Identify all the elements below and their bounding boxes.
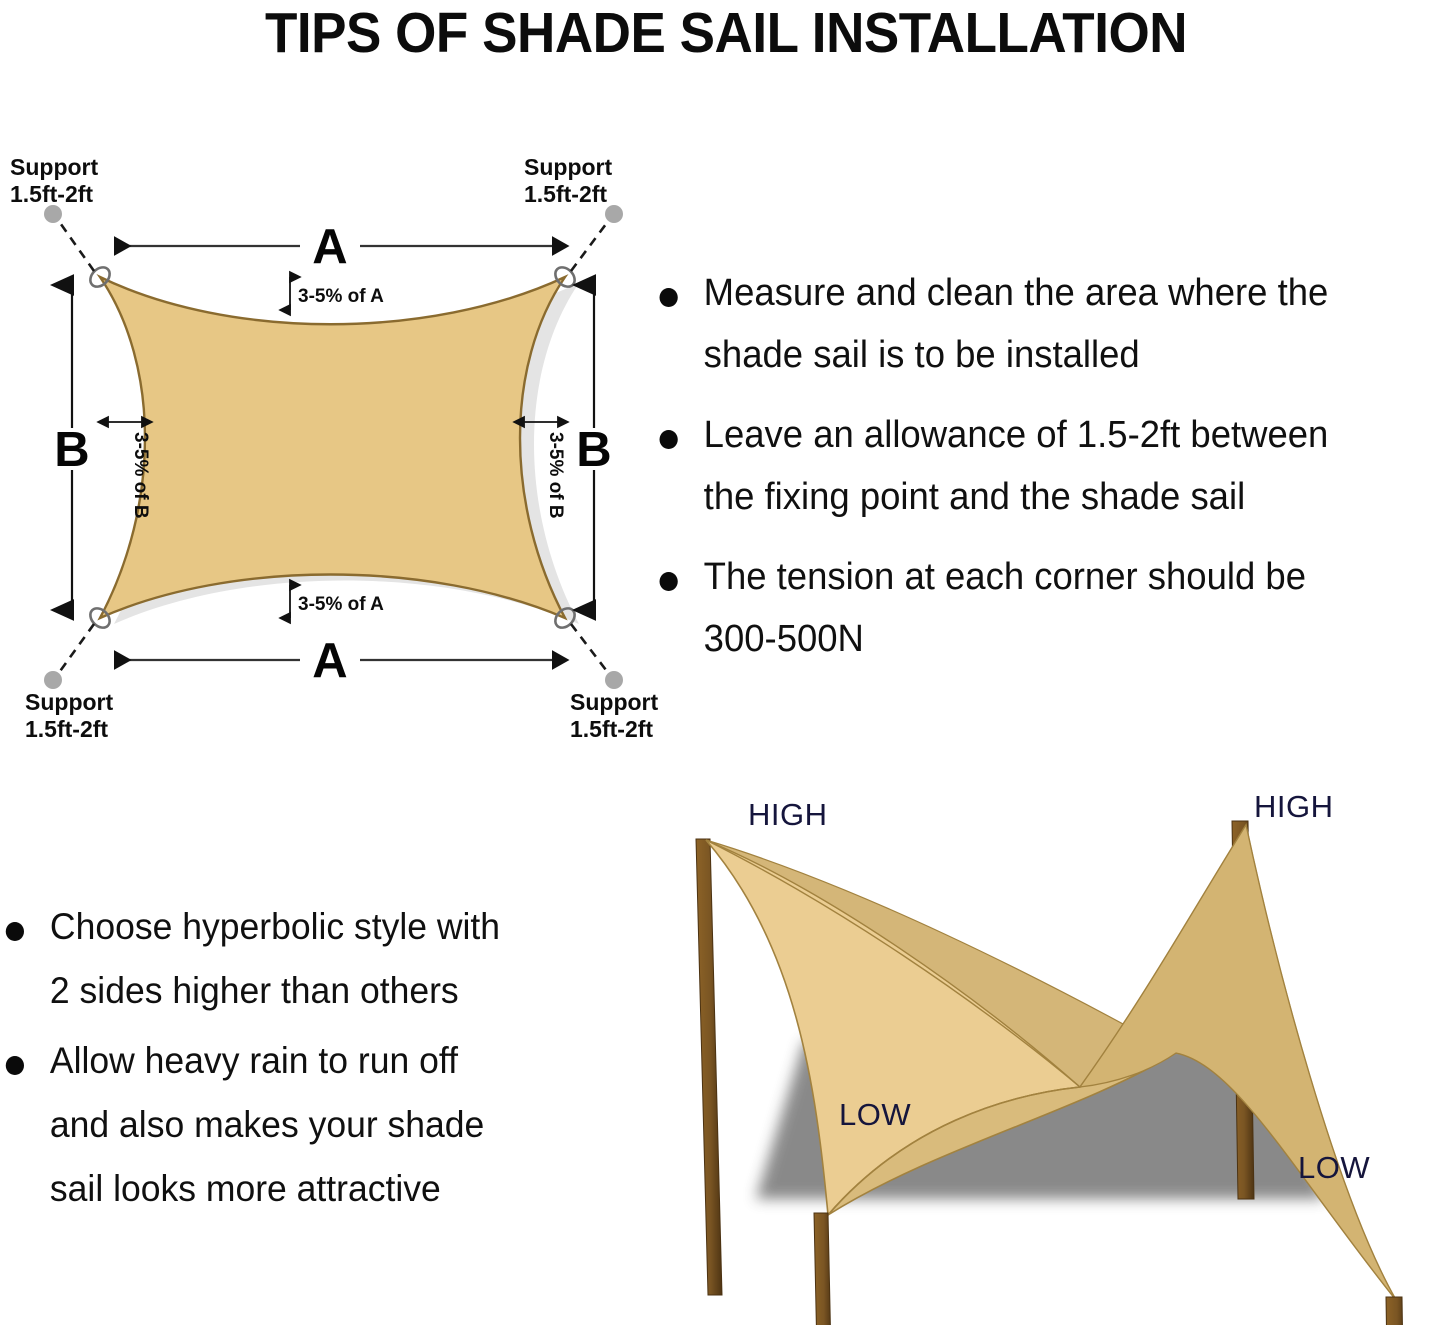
support-label-bottom-right: Support 1.5ft-2ft [570, 689, 658, 742]
bullet-dot-icon [660, 288, 678, 307]
hyperbolic-style-list: Choose hyperbolic style with 2 sides hig… [0, 895, 640, 1221]
support-label-value: 1.5ft-2ft [524, 181, 607, 207]
curve-callout-label: 3-5% of A [298, 286, 384, 307]
dimension-letter-bottom: A [312, 634, 347, 688]
page-title: TIPS OF SHADE SAIL INSTALLATION [51, 2, 1401, 64]
list-item-line: Choose hyperbolic style with [50, 906, 500, 947]
pole-back-left [696, 839, 722, 1295]
list-item-line: Measure and clean the area where the [704, 272, 1329, 314]
curve-callout-label: 3-5% of B [545, 432, 566, 519]
list-item-line: Leave an allowance of 1.5-2ft between [704, 414, 1329, 456]
curve-callout-bottom: 3-5% of A [290, 585, 384, 618]
bullet-dot-icon [6, 922, 24, 941]
support-label-text: Support [524, 154, 612, 180]
curve-callout-label: 3-5% of A [298, 594, 384, 615]
corner-label-low-right: LOW [1298, 1150, 1370, 1185]
curve-callout-left: 3-5% of B [108, 422, 151, 519]
list-item-line: sail looks more attractive [50, 1168, 441, 1209]
bullet-dot-icon [6, 1056, 24, 1075]
rect-sail-body [100, 277, 565, 618]
dimension-letter-right: B [576, 423, 611, 477]
bullet-dot-icon [660, 572, 678, 591]
dimension-letter-top: A [312, 220, 347, 274]
support-label-text: Support [570, 689, 658, 715]
corner-label-high-right: HIGH [1254, 789, 1334, 824]
list-item-line: Allow heavy rain to run off [50, 1040, 458, 1081]
list-item-line: shade sail is to be installed [704, 334, 1140, 376]
corner-label-high-left: HIGH [748, 797, 828, 832]
installation-tips-list: Measure and clean the area where the sha… [648, 262, 1452, 670]
list-item: Leave an allowance of 1.5-2ft between th… [648, 404, 1420, 528]
list-item: The tension at each corner should be 300… [648, 546, 1420, 670]
support-label-value: 1.5ft-2ft [25, 716, 108, 742]
rect-sail-diagram: Support 1.5ft-2ft Support 1.5ft-2ft Supp… [0, 150, 660, 750]
support-label-value: 1.5ft-2ft [570, 716, 653, 742]
hyperbolic-style-panel: Choose hyperbolic style with 2 sides hig… [0, 895, 640, 1225]
curve-callout-label: 3-5% of B [130, 432, 151, 519]
hyperbolic-sail-figure: HIGH HIGH LOW LOW [676, 795, 1452, 1325]
bullet-dot-icon [660, 430, 678, 449]
support-label-bottom-left: Support 1.5ft-2ft [25, 689, 113, 742]
list-item: Choose hyperbolic style with 2 sides hig… [0, 895, 614, 1023]
support-label-value: 1.5ft-2ft [10, 181, 93, 207]
support-label-text: Support [10, 154, 98, 180]
list-item-line: 2 sides higher than others [50, 970, 459, 1011]
list-item-line: The tension at each corner should be [704, 556, 1306, 598]
support-label-top-right: Support 1.5ft-2ft [524, 154, 612, 207]
pole-front-left [814, 1213, 832, 1325]
list-item-line: 300-500N [704, 618, 864, 660]
list-item: Allow heavy rain to run off and also mak… [0, 1029, 614, 1221]
dimension-letter-left: B [54, 423, 89, 477]
list-item: Measure and clean the area where the sha… [648, 262, 1420, 386]
support-label-top-left: Support 1.5ft-2ft [10, 154, 98, 207]
curve-callout-top: 3-5% of A [290, 277, 384, 310]
list-item-line: the fixing point and the shade sail [704, 476, 1245, 518]
pole-front-right [1386, 1297, 1406, 1325]
corner-label-low-left: LOW [839, 1097, 911, 1132]
installation-tips-panel: Measure and clean the area where the sha… [648, 262, 1452, 662]
list-item-line: and also makes your shade [50, 1104, 484, 1145]
support-label-text: Support [25, 689, 113, 715]
